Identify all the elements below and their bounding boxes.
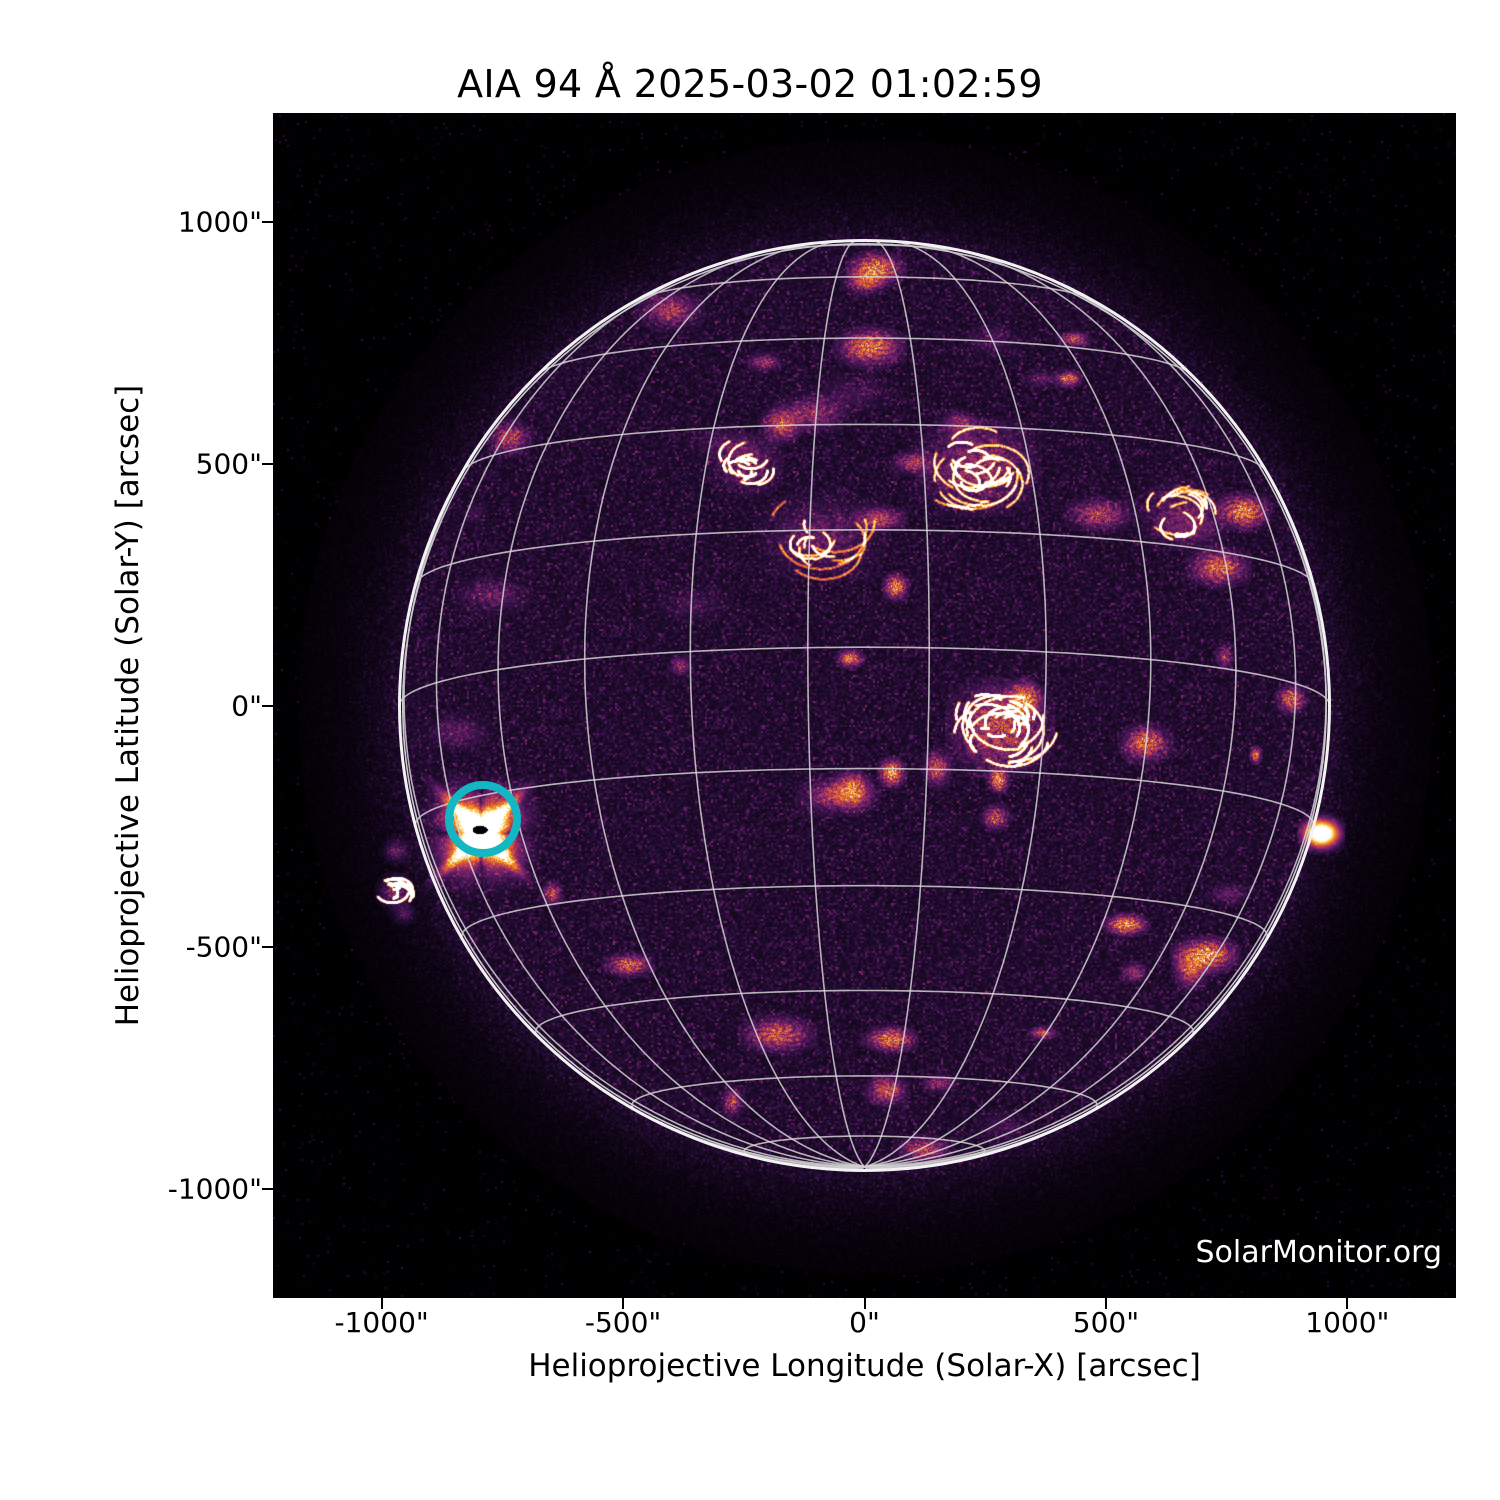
grid-line: [585, 243, 865, 1167]
x-axis-label: Helioprojective Longitude (Solar-X) [arc…: [273, 1348, 1456, 1384]
grid-line: [865, 244, 1151, 1167]
grid-line: [536, 991, 1194, 1037]
y-axis-label: Helioprojective Latitude (Solar-Y) [arcs…: [100, 113, 156, 1298]
x-tick-mark: [864, 1298, 866, 1309]
grid-line: [400, 647, 1330, 705]
grid-line: [865, 247, 1236, 1167]
plot-area[interactable]: SolarMonitor.org: [273, 113, 1456, 1298]
y-tick-mark: [262, 1188, 273, 1190]
x-tick-label: 1000": [1305, 1306, 1389, 1339]
x-tick-mark: [1105, 1298, 1107, 1309]
y-tick-mark: [262, 705, 273, 707]
grid-line: [463, 424, 1265, 470]
x-tick-mark: [1346, 1298, 1348, 1309]
y-tick-label: -500": [186, 931, 262, 964]
x-tick-label: -500": [585, 1306, 661, 1339]
flare-circle-marker[interactable]: [445, 781, 521, 857]
grid-line: [632, 1076, 1097, 1111]
page-title: AIA 94 Å 2025-03-02 01:02:59: [0, 62, 1500, 106]
x-tick-label: 0": [849, 1306, 880, 1339]
grid-line: [808, 241, 865, 1167]
x-tick-mark: [622, 1298, 624, 1309]
grid-line: [415, 769, 1313, 826]
y-tick-label: 0": [231, 689, 262, 722]
grid-line: [498, 247, 864, 1167]
grid-line: [865, 383, 1327, 1167]
grid-line: [539, 338, 1190, 374]
grid-line: [865, 242, 1047, 1167]
y-tick-label: 1000": [178, 205, 262, 238]
grid-line: [416, 530, 1314, 584]
y-tick-label: -1000": [168, 1173, 262, 1206]
grid-line: [690, 241, 864, 1166]
grid-line: [437, 260, 865, 1167]
y-tick-mark: [262, 221, 273, 223]
grid-line: [404, 365, 865, 1167]
x-tick-label: -1000": [335, 1306, 429, 1339]
solar-limb: [400, 241, 1330, 1171]
watermark-label: SolarMonitor.org: [1196, 1235, 1442, 1270]
grid-line: [865, 241, 930, 1167]
x-tick-mark: [381, 1298, 383, 1309]
solar-image-figure: AIA 94 Å 2025-03-02 01:02:59 Helioprojec…: [0, 0, 1500, 1500]
y-tick-mark: [262, 946, 273, 948]
x-tick-label: 500": [1073, 1306, 1139, 1339]
heliographic-grid: [273, 113, 1456, 1298]
y-tick-mark: [262, 463, 273, 465]
grid-line: [462, 886, 1267, 940]
y-tick-label: 500": [196, 447, 262, 480]
